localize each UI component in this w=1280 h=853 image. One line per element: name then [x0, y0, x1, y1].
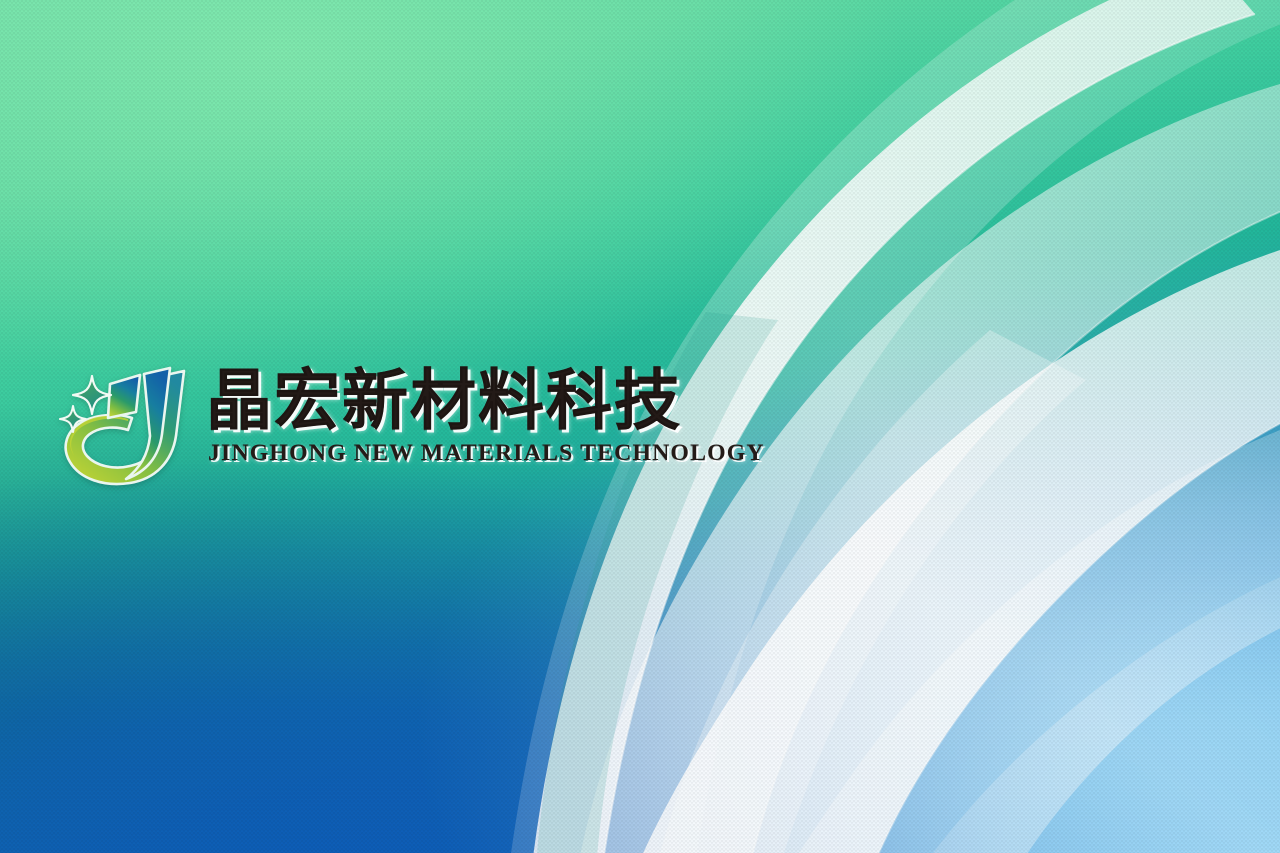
brand-wallpaper: 晶宏新材料科技 JINGHONG NEW MATERIALS TECHNOLOG… — [0, 0, 1280, 853]
wordmark: 晶宏新材料科技 JINGHONG NEW MATERIALS TECHNOLOG… — [206, 368, 746, 464]
brand-lockup: 晶宏新材料科技 JINGHONG NEW MATERIALS TECHNOLOG… — [58, 358, 746, 488]
sparkle-star-large — [73, 376, 111, 414]
company-name-en: JINGHONG NEW MATERIALS TECHNOLOGY — [208, 441, 765, 464]
jinghong-j-swoosh-logo — [58, 362, 194, 488]
logo-j-flag — [108, 375, 140, 418]
company-name-cn: 晶宏新材料科技 — [206, 368, 746, 434]
